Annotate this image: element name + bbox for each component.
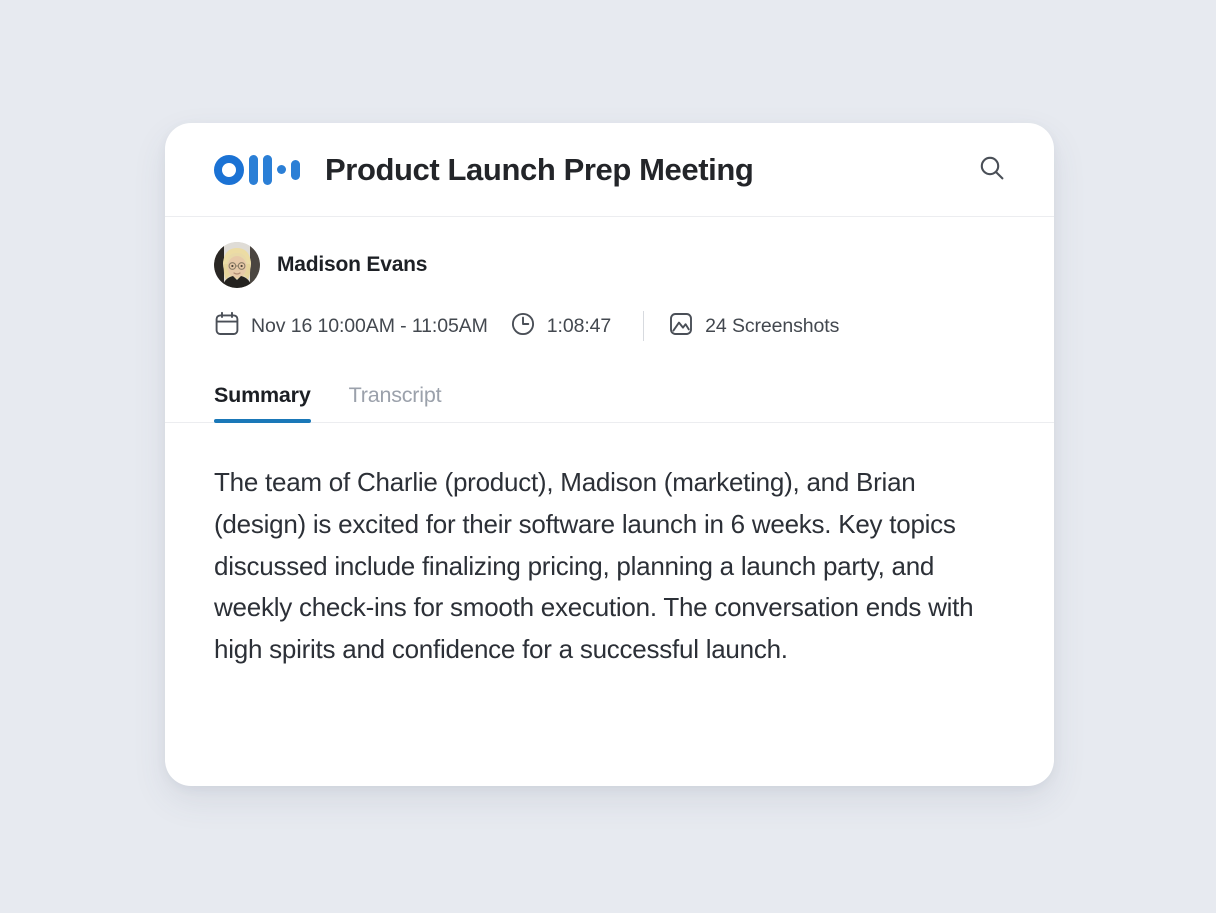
otter-logo-bar-3 [291,160,300,180]
meeting-meta: Nov 16 10:00AM - 11:05AM 1:08:47 [214,311,1005,341]
tab-summary[interactable]: Summary [214,383,311,423]
meeting-card: Product Launch Prep Meeting [165,123,1054,786]
avatar[interactable] [214,242,260,288]
card-header: Product Launch Prep Meeting [165,123,1054,217]
meta-date-text: Nov 16 10:00AM - 11:05AM [251,315,488,338]
owner-row: Madison Evans [214,241,1005,289]
otter-logo-bar-2 [263,155,272,185]
otter-logo-ring [214,155,244,185]
tab-bar: Summary Transcript [214,371,1005,423]
owner-name: Madison Evans [277,253,427,277]
meta-date: Nov 16 10:00AM - 11:05AM [214,311,488,342]
otter-logo-bar-1 [249,155,258,185]
search-icon [977,153,1007,186]
meta-divider [643,311,644,341]
search-button[interactable] [970,148,1014,192]
otter-logo[interactable] [214,155,300,185]
otter-logo-dot [277,165,286,174]
summary-body: The team of Charlie (product), Madison (… [214,462,1004,671]
tab-transcript[interactable]: Transcript [349,383,442,423]
calendar-icon [214,311,240,342]
app-background: Product Launch Prep Meeting [0,0,1216,913]
clock-icon [510,311,536,342]
meta-duration-text: 1:08:47 [547,315,611,338]
meta-screenshots[interactable]: 24 Screenshots [668,311,839,342]
meta-duration: 1:08:47 [510,311,611,342]
meta-screenshots-text: 24 Screenshots [705,315,839,338]
image-icon [668,311,694,342]
page-title: Product Launch Prep Meeting [325,152,753,188]
card-body: Madison Evans Nov 16 10:00AM - 11:05AM [165,217,1054,671]
